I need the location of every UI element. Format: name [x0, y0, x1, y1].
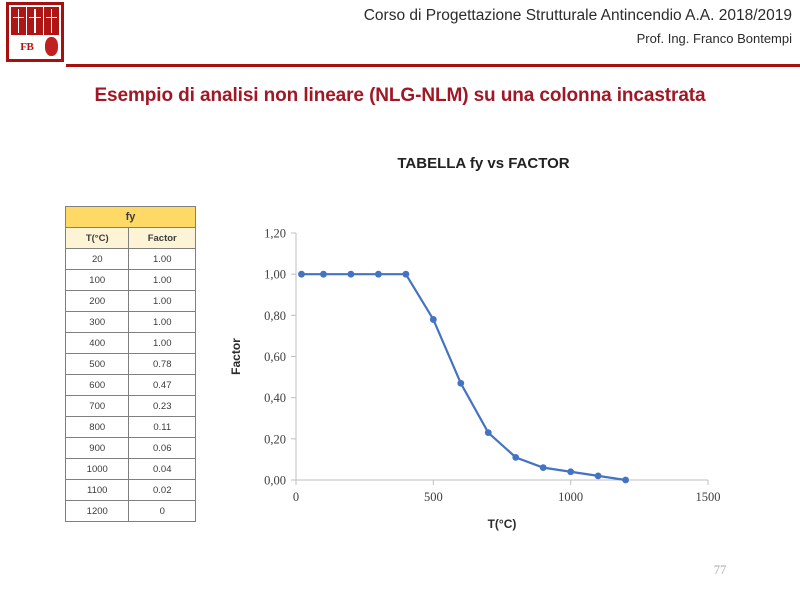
- cell-factor: 0.04: [129, 459, 196, 480]
- table-row: 1200 0: [66, 501, 196, 522]
- series-marker: [622, 477, 629, 484]
- cell-temperature: 400: [66, 333, 129, 354]
- professor-name: Prof. Ing. Franco Bontempi: [92, 28, 792, 50]
- x-axis-tick-labels: 050010001500: [293, 490, 721, 504]
- factor-vs-temperature-chart: TABELLA fy vs FACTOR 0,000,200,400,600,8…: [215, 145, 735, 540]
- table-row: 1000 0.04: [66, 459, 196, 480]
- series-marker: [375, 271, 382, 278]
- cell-temperature: 20: [66, 249, 129, 270]
- cell-temperature: 1000: [66, 459, 129, 480]
- table-row: 20 1.00: [66, 249, 196, 270]
- series-marker: [595, 472, 602, 479]
- cell-factor: 1.00: [129, 291, 196, 312]
- y-tick-label: 1,20: [264, 227, 286, 241]
- y-tick-label: 0,20: [264, 432, 286, 446]
- y-axis-group: 0,000,200,400,600,801,001,20: [264, 227, 296, 488]
- cell-factor: 0: [129, 501, 196, 522]
- series-marker: [567, 468, 574, 475]
- y-tick-label: 1,00: [264, 268, 286, 282]
- table-row: 800 0.11: [66, 417, 196, 438]
- fy-factor-table: fy T(°C) Factor 20 1.00 100 1.00 200 1.0…: [65, 206, 196, 522]
- cell-temperature: 600: [66, 375, 129, 396]
- cell-temperature: 900: [66, 438, 129, 459]
- cell-temperature: 1100: [66, 480, 129, 501]
- cell-temperature: 800: [66, 417, 129, 438]
- table-row: 900 0.06: [66, 438, 196, 459]
- seal-letters: FB: [11, 36, 43, 57]
- table-row: 1100 0.02: [66, 480, 196, 501]
- x-axis-title: T(°C): [488, 517, 517, 531]
- logo-seal: FB: [6, 2, 64, 62]
- cell-factor: 1.00: [129, 312, 196, 333]
- table-header-row: T(°C) Factor: [66, 228, 196, 249]
- slide-header: FB Corso di Progettazione Strutturale An…: [0, 0, 800, 70]
- series-marker: [512, 454, 519, 461]
- x-axis-ticks: [296, 480, 708, 485]
- column-header-temperature: T(°C): [66, 228, 129, 249]
- x-tick-label: 500: [424, 490, 443, 504]
- y-axis-tick-labels: 0,000,200,400,600,801,001,20: [264, 227, 286, 488]
- series-marker: [402, 271, 409, 278]
- series-marker: [298, 271, 305, 278]
- cell-temperature: 100: [66, 270, 129, 291]
- cell-factor: 0.47: [129, 375, 196, 396]
- y-tick-label: 0,60: [264, 350, 286, 364]
- series-marker: [348, 271, 355, 278]
- x-tick-label: 1000: [558, 490, 583, 504]
- cell-temperature: 200: [66, 291, 129, 312]
- header-text-block: Corso di Progettazione Strutturale Antin…: [92, 4, 792, 50]
- cell-factor: 0.11: [129, 417, 196, 438]
- table-row: 400 1.00: [66, 333, 196, 354]
- table-body: fy T(°C) Factor 20 1.00 100 1.00 200 1.0…: [66, 207, 196, 522]
- y-axis-title: Factor: [229, 338, 243, 375]
- y-tick-label: 0,80: [264, 309, 286, 323]
- seal-dot: [44, 36, 59, 57]
- series-line: [301, 274, 625, 480]
- cell-temperature: 700: [66, 396, 129, 417]
- table-row: 500 0.78: [66, 354, 196, 375]
- page-number: 77: [700, 563, 740, 578]
- cell-temperature: 1200: [66, 501, 129, 522]
- cell-factor: 0.78: [129, 354, 196, 375]
- header-divider: [66, 64, 800, 67]
- series-marker: [320, 271, 327, 278]
- cell-factor: 0.06: [129, 438, 196, 459]
- table-row: 200 1.00: [66, 291, 196, 312]
- table-title-cell: fy: [66, 207, 196, 228]
- table-row: 300 1.00: [66, 312, 196, 333]
- y-tick-label: 0,40: [264, 391, 286, 405]
- cell-factor: 1.00: [129, 249, 196, 270]
- series-marker: [540, 464, 547, 471]
- course-title: Corso di Progettazione Strutturale Antin…: [92, 4, 792, 28]
- series-marker: [430, 316, 437, 323]
- chart-plot-svg: 0,000,200,400,600,801,001,20 05001000150…: [215, 145, 735, 540]
- column-header-factor: Factor: [129, 228, 196, 249]
- series-marker: [485, 429, 492, 436]
- seal-glyph-grid: FB: [9, 5, 61, 59]
- x-axis-group: 050010001500: [293, 480, 721, 504]
- cell-factor: 0.23: [129, 396, 196, 417]
- seal-dot-inner: [45, 37, 58, 56]
- seal-glyph-1: [11, 7, 26, 35]
- data-series-factor: [298, 271, 629, 484]
- table-title-row: fy: [66, 207, 196, 228]
- cell-factor: 0.02: [129, 480, 196, 501]
- series-marker: [457, 380, 464, 387]
- cell-temperature: 300: [66, 312, 129, 333]
- x-tick-label: 1500: [696, 490, 721, 504]
- table-row: 100 1.00: [66, 270, 196, 291]
- y-tick-label: 0,00: [264, 474, 286, 488]
- cell-temperature: 500: [66, 354, 129, 375]
- cell-factor: 1.00: [129, 270, 196, 291]
- slide-title: Esempio di analisi non lineare (NLG-NLM)…: [0, 85, 800, 107]
- table-row: 600 0.47: [66, 375, 196, 396]
- table-row: 700 0.23: [66, 396, 196, 417]
- seal-glyph-3: [44, 7, 59, 35]
- y-axis-ticks: [291, 233, 296, 480]
- x-tick-label: 0: [293, 490, 299, 504]
- cell-factor: 1.00: [129, 333, 196, 354]
- seal-glyph-2: [27, 7, 42, 35]
